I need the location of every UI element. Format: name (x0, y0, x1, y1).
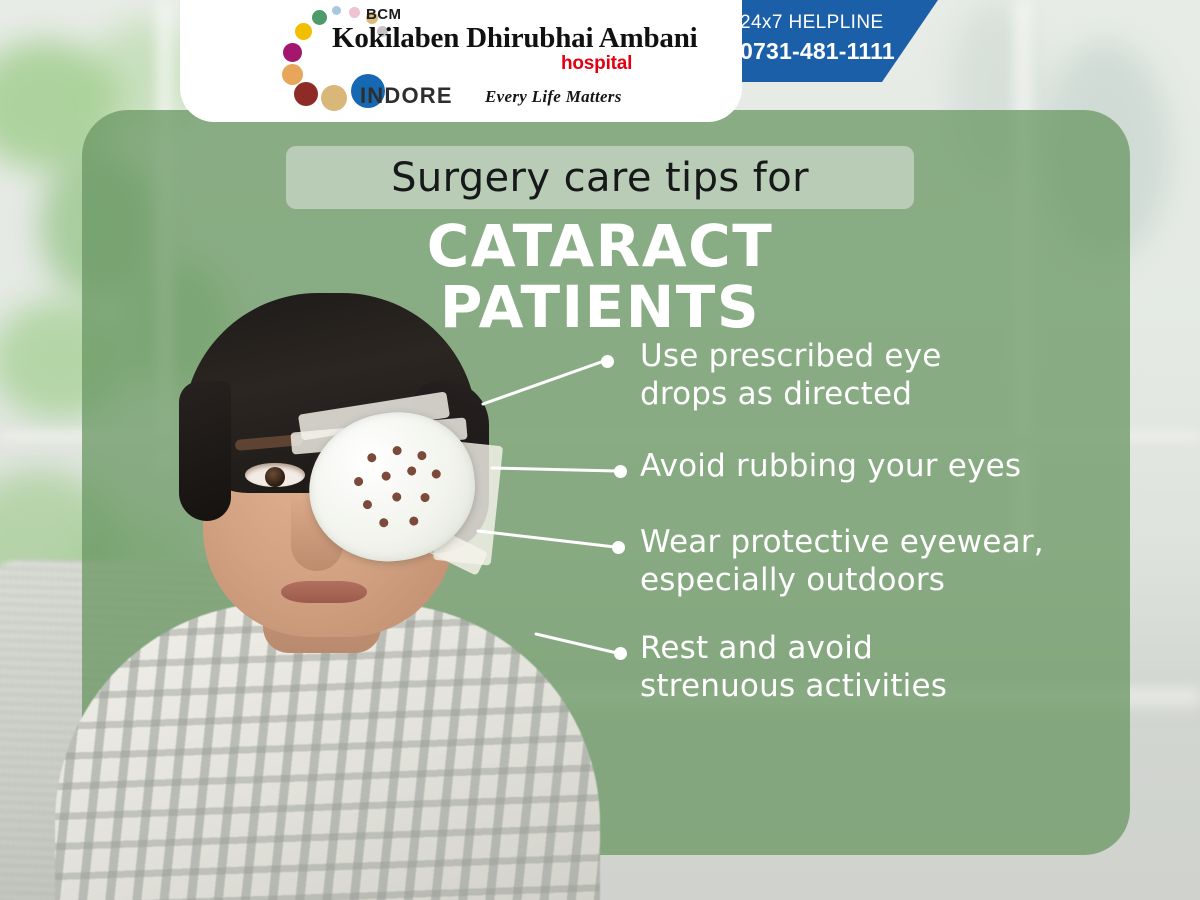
patient-mouth (281, 581, 367, 603)
logo-tagline: Every Life Matters (485, 87, 622, 107)
tip-item: Wear protective eyewear, especially outd… (640, 524, 1044, 600)
logo-dot (294, 82, 318, 106)
shield-hole (420, 493, 430, 503)
bullet-dot (614, 647, 627, 660)
helpline-number[interactable]: 0731-481-1111 (740, 36, 895, 67)
bullet-dot (614, 465, 627, 478)
logo-dot (312, 10, 327, 25)
shield-hole (379, 518, 389, 528)
shield-hole (392, 446, 402, 456)
shield-hole (381, 471, 391, 481)
patient-iris (265, 467, 285, 487)
tip-item: Rest and avoid strenuous activities (640, 630, 947, 706)
logo-city: INDORE (360, 83, 453, 109)
title-eyebrow-pill: Surgery care tips for (286, 146, 914, 209)
logo-dot (282, 64, 303, 85)
logo-bcm-text: BCM (366, 6, 401, 23)
tip-item: Use prescribed eye drops as directed (640, 338, 942, 414)
shield-hole (354, 477, 364, 487)
helpline-content: 24x7 HELPLINE 0731-481-1111 (740, 10, 895, 67)
shield-hole (417, 451, 427, 461)
shield-hole (409, 516, 419, 526)
logo-dot (295, 23, 312, 40)
logo-dot (283, 43, 302, 62)
logo-dot (321, 85, 347, 111)
shield-hole (392, 492, 402, 502)
shield-hole (367, 453, 377, 463)
logo-dot (349, 7, 360, 18)
patient-photo (95, 285, 555, 900)
bullet-dot (601, 355, 614, 368)
bullet-dot (612, 541, 625, 554)
shield-hole (362, 500, 372, 510)
patient-hair-left (179, 381, 231, 521)
hospital-logo-card: BCM Kokilaben Dhirubhai Ambani hospital … (180, 0, 742, 122)
logo-dot (332, 6, 341, 15)
page-title: CATARACT PATIENTS (286, 216, 914, 338)
shield-hole (431, 469, 441, 479)
logo-hospital-name: Kokilaben Dhirubhai Ambani (332, 22, 698, 55)
tip-item: Avoid rubbing your eyes (640, 448, 1021, 486)
shield-hole (407, 466, 417, 476)
helpline-label: 24x7 HELPLINE (740, 10, 895, 36)
title-eyebrow: Surgery care tips for (286, 146, 914, 209)
logo-hospital-word: hospital (561, 53, 632, 75)
infographic-canvas: Surgery care tips for CATARACT PATIENTS … (0, 0, 1200, 900)
